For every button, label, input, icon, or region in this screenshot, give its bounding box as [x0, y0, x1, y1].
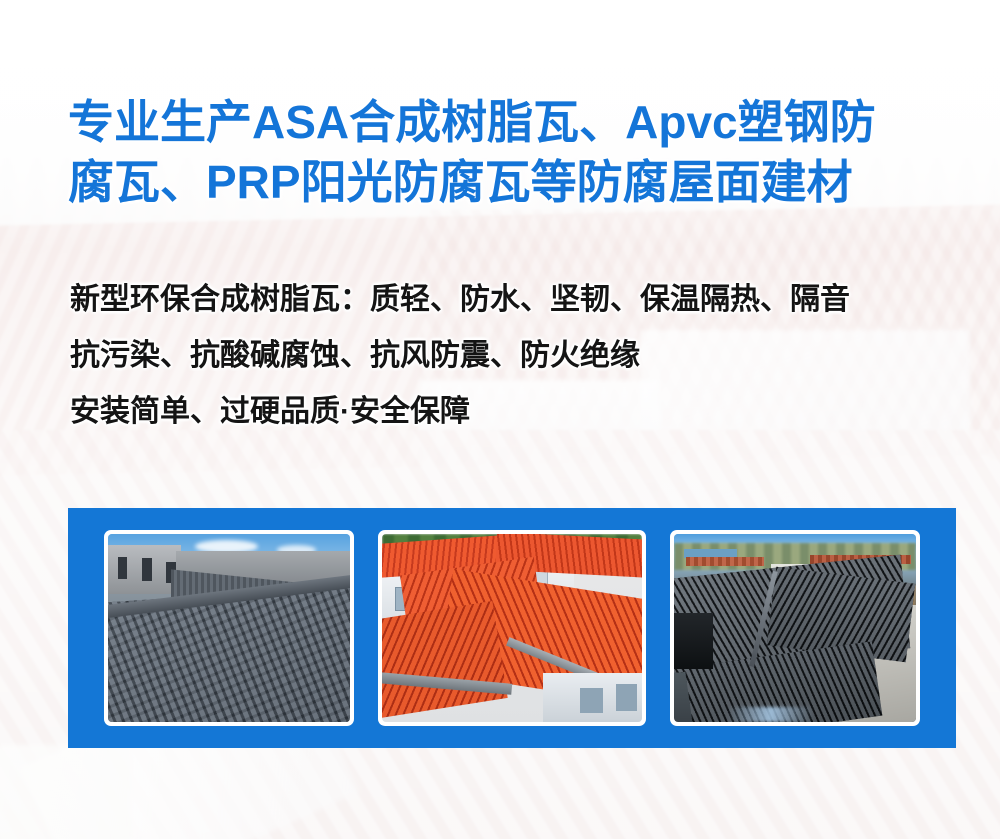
photo3-light-reflection [727, 707, 814, 722]
photo1-window [142, 558, 152, 581]
black-resin-tile-roof-photo [674, 534, 916, 722]
subheadline-line-1: 新型环保合成树脂瓦：质轻、防水、坚韧、保温隔热、隔音 [70, 272, 950, 328]
headline: 专业生产ASA合成树脂瓦、Apvc塑钢防 腐瓦、PRP阳光防腐瓦等防腐屋面建材 [68, 92, 948, 212]
photo2-window [580, 688, 603, 712]
photo1-window [118, 557, 128, 580]
grey-resin-tile-roof-photo [108, 534, 350, 722]
photo-frame-red-roof[interactable] [378, 530, 646, 726]
headline-line-1: 专业生产ASA合成树脂瓦、Apvc塑钢防 [68, 92, 948, 152]
product-photo-gallery [68, 508, 956, 748]
photo3-village-roofs-left [686, 557, 763, 566]
subheadline: 新型环保合成树脂瓦：质轻、防水、坚韧、保温隔热、隔音 抗污染、抗酸碱腐蚀、抗风防… [70, 272, 950, 440]
subheadline-line-2: 抗污染、抗酸碱腐蚀、抗风防震、防火绝缘 [70, 328, 950, 384]
headline-line-2: 腐瓦、PRP阳光防腐瓦等防腐屋面建材 [68, 152, 948, 212]
photo2-red-roof-front-left [382, 601, 508, 722]
subheadline-line-3: 安装简单、过硬品质·安全保障 [70, 384, 950, 440]
photo-frame-black-roof[interactable] [670, 530, 920, 726]
photo2-window [616, 684, 637, 710]
photo3-under-eave-shadow [674, 613, 713, 669]
red-resin-tile-roof-photo [382, 534, 642, 722]
photo-frame-grey-roof[interactable] [104, 530, 354, 726]
product-promo-banner: 专业生产ASA合成树脂瓦、Apvc塑钢防 腐瓦、PRP阳光防腐瓦等防腐屋面建材 … [0, 0, 1000, 839]
